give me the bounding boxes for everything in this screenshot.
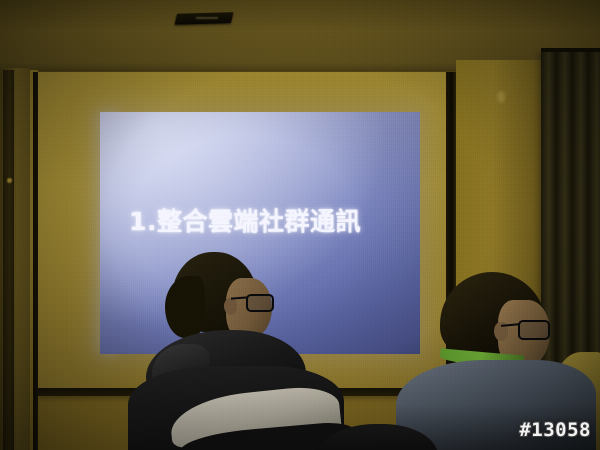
left-door-frame [3, 70, 14, 450]
watermark: #13058 [519, 419, 591, 441]
wall-light-dot [7, 178, 12, 183]
glasses-lens-icon [246, 294, 274, 312]
glasses-lens-icon [518, 320, 550, 340]
person-foreground-left-hair-back [165, 276, 205, 338]
person-foreground-left-ear [224, 298, 237, 315]
conference-room-photo: 1.整合雲端社群通訊 #13058 [0, 0, 600, 450]
wall-mark [497, 91, 505, 103]
ceiling-vent-highlight [196, 17, 218, 19]
slide-title: 1.整合雲端社群通訊 [100, 202, 390, 238]
